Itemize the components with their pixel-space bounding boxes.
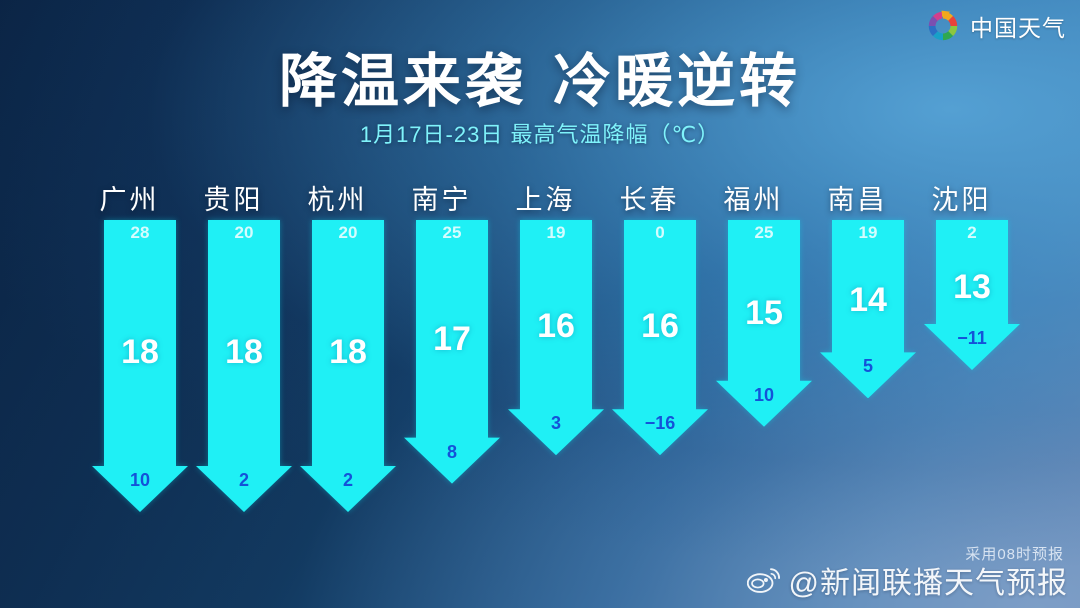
arrow-shape [300,220,396,512]
city-label: 南宁 [388,178,492,217]
drop-arrow: 213−11 [924,220,1020,370]
city-label: 沈阳 [908,178,1012,217]
arrow-shape [612,220,708,455]
weibo-credit: @新闻联播天气预报 [747,558,1068,602]
arrow-shape [92,220,188,512]
city-label: 福州 [700,178,804,217]
weibo-handle: @新闻联播天气预报 [789,558,1068,602]
city-label: 杭州 [284,178,388,217]
drop-arrow: 20182 [196,220,292,512]
arrow-shape [820,220,916,398]
city-label: 广州 [76,178,180,217]
city-label: 贵阳 [180,178,284,217]
poster-subtitle: 1月17日-23日 最高气温降幅（℃） [0,117,1080,149]
poster-title: 降温来袭冷暖逆转 [0,34,1080,118]
drop-arrow: 016−16 [612,220,708,455]
arrow-shape [508,220,604,455]
weibo-icon [747,566,781,594]
city-label: 南昌 [804,178,908,217]
poster-title-part1: 降温来袭 [279,49,527,114]
city-label: 上海 [492,178,596,217]
arrow-shape [924,220,1020,370]
arrow-shape [716,220,812,427]
arrow-shape [404,220,500,484]
drop-arrow: 19145 [820,220,916,398]
drop-arrow: 251510 [716,220,812,427]
weather-infographic-poster: 中国天气 降温来袭冷暖逆转 1月17日-23日 最高气温降幅（℃） 广州2818… [0,0,1080,608]
drop-arrow: 281810 [92,220,188,512]
arrow-shape [196,220,292,512]
city-label: 长春 [596,178,700,217]
drop-arrow: 25178 [404,220,500,484]
poster-title-part2: 冷暖逆转 [553,49,801,114]
temperature-drop-chart: 广州281810贵阳20182杭州20182南宁25178上海19163长春01… [76,178,1016,518]
drop-arrow: 19163 [508,220,604,455]
drop-arrow: 20182 [300,220,396,512]
